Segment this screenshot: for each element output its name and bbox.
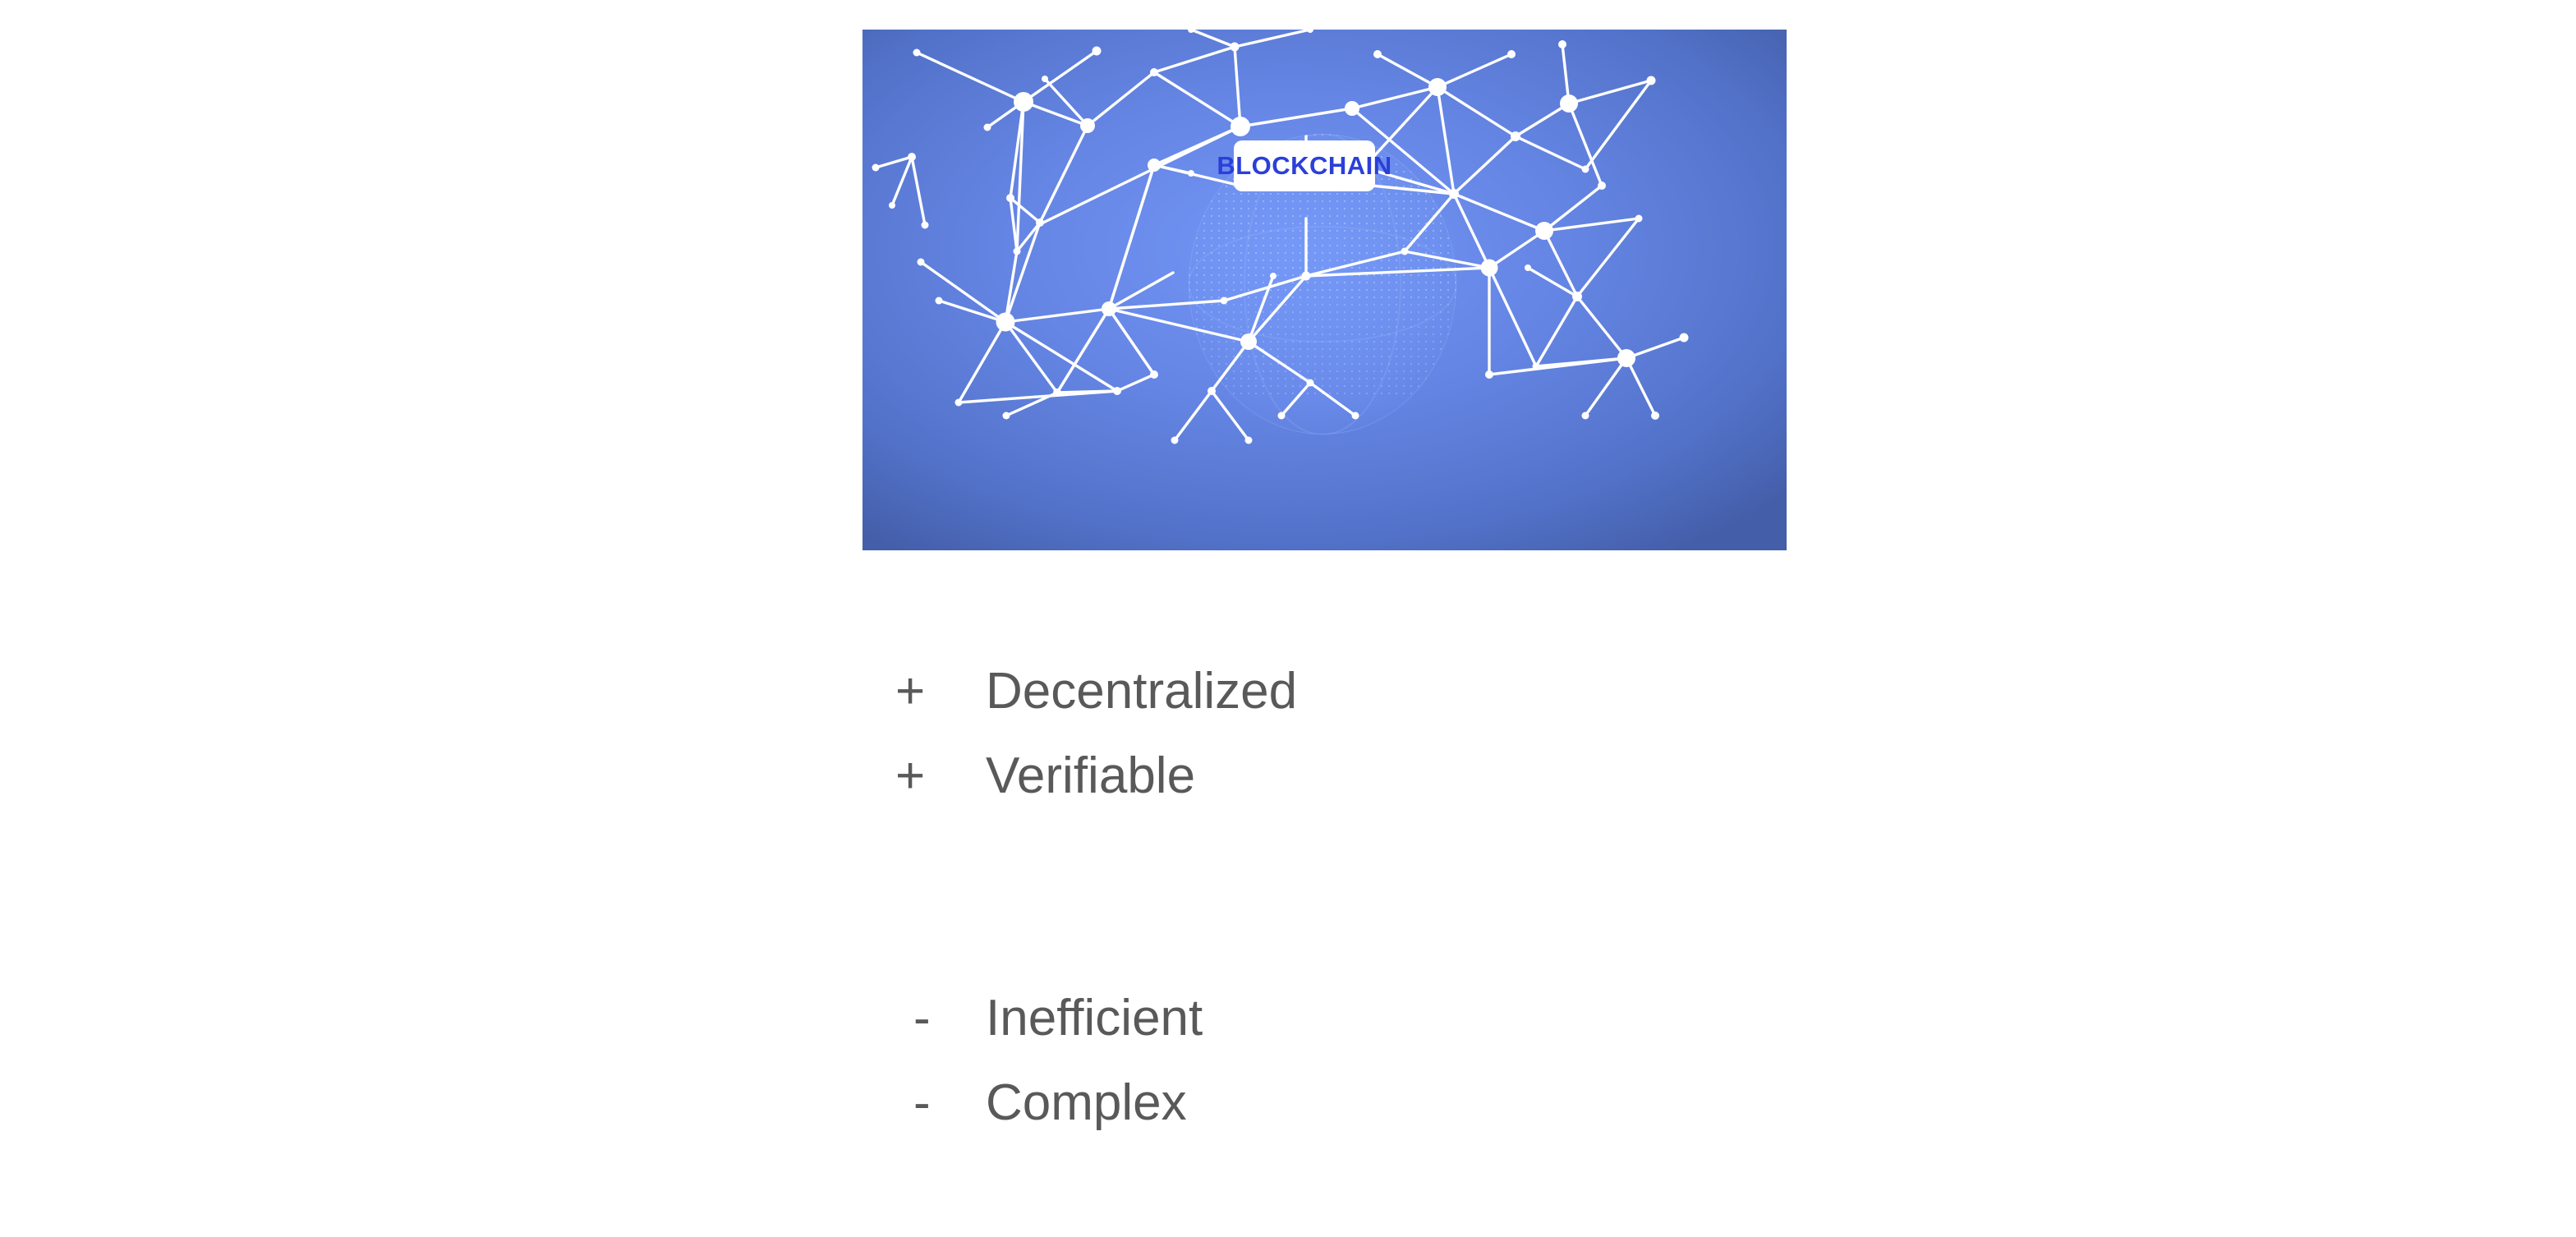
list-item: + Decentralized bbox=[895, 649, 1297, 733]
list-item: - Complex bbox=[895, 1060, 1203, 1145]
list-item: - Inefficient bbox=[895, 976, 1203, 1060]
blockchain-network-figure: BLOCKCHAIN bbox=[862, 30, 1787, 550]
plus-marker-icon: + bbox=[895, 733, 986, 818]
minus-marker-icon: - bbox=[895, 976, 986, 1060]
cons-item-label: Inefficient bbox=[986, 976, 1203, 1060]
pros-item-label: Decentralized bbox=[986, 649, 1297, 733]
cons-list: - Inefficient - Complex bbox=[895, 976, 1203, 1145]
blockchain-center-label: BLOCKCHAIN bbox=[1217, 151, 1391, 180]
cons-item-label: Complex bbox=[986, 1060, 1187, 1145]
plus-marker-icon: + bbox=[895, 649, 986, 733]
network-graph: BLOCKCHAIN bbox=[862, 30, 1787, 550]
blockchain-center-badge: BLOCKCHAIN bbox=[1217, 140, 1391, 191]
list-item: + Verifiable bbox=[895, 733, 1297, 818]
pros-list: + Decentralized + Verifiable bbox=[895, 649, 1297, 818]
pros-item-label: Verifiable bbox=[986, 733, 1195, 818]
minus-marker-icon: - bbox=[895, 1060, 986, 1145]
